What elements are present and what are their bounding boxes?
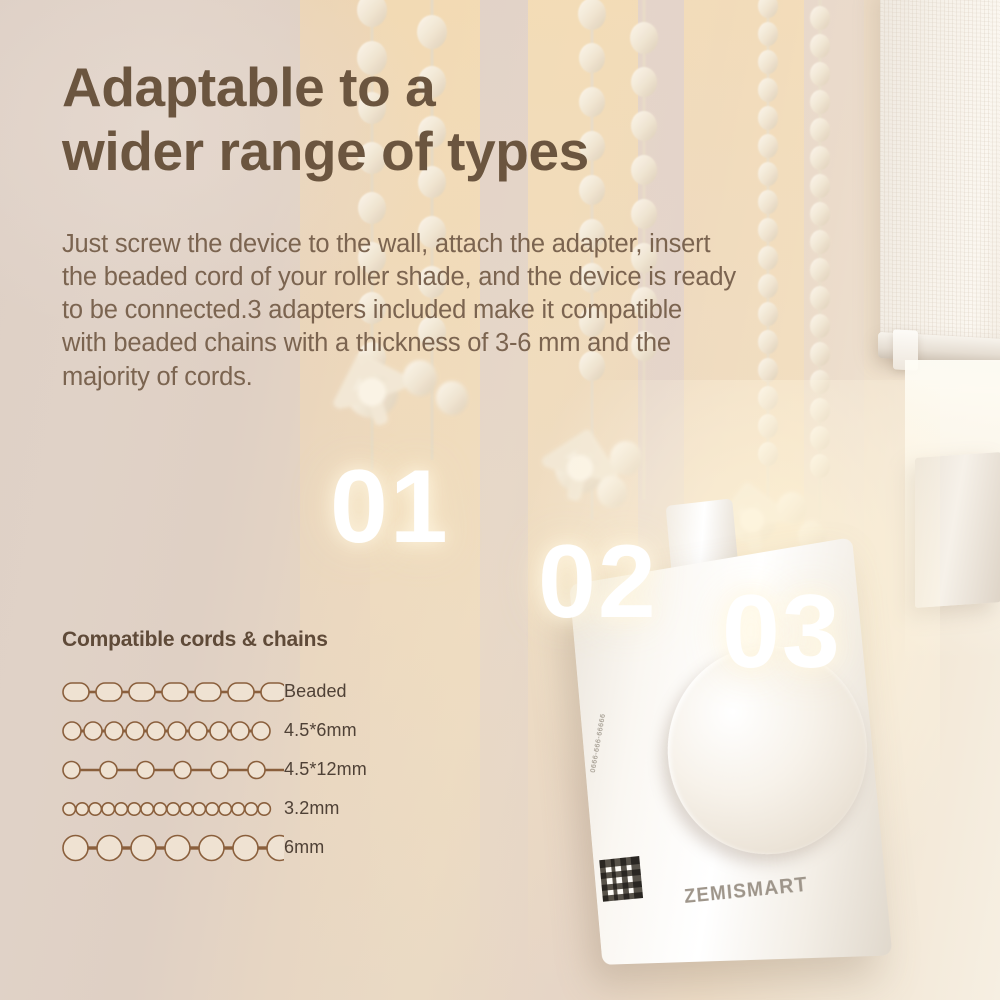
qr-code <box>599 856 643 902</box>
step-number-02: 02 <box>538 530 658 634</box>
cord-diagram-micro-round <box>62 794 284 824</box>
compatible-cords-list: Beaded4.5*6mm4.5*12mm3.2mm6mm <box>62 672 462 867</box>
body-line-4: with beaded chains with a thickness of 3… <box>62 327 922 360</box>
body-line-3: to be connected.3 adapters included make… <box>62 294 922 327</box>
body-line-5: majority of cords. <box>62 361 922 394</box>
cord-diagram-big-round <box>62 833 284 863</box>
cord-row: 6mm <box>62 828 462 867</box>
cord-label: 6mm <box>284 837 324 858</box>
cord-row: 4.5*12mm <box>62 750 462 789</box>
cord-row: Beaded <box>62 672 462 711</box>
body-line-1: Just screw the device to the wall, attac… <box>62 228 922 261</box>
body-line-2: the beaded cord of your roller shade, an… <box>62 261 922 294</box>
cord-label: 3.2mm <box>284 798 340 819</box>
cord-diagram-oval-link <box>62 677 284 707</box>
compatible-cords-title: Compatible cords & chains <box>62 628 462 652</box>
cord-diagram-tight-round <box>62 716 284 746</box>
step-number-01: 01 <box>330 455 450 559</box>
compatible-cords-panel: Compatible cords & chains Beaded4.5*6mm4… <box>62 628 462 867</box>
wall-sconce <box>915 452 1000 608</box>
page-title: Adaptable to a wider range of types <box>62 56 589 184</box>
headline-line-1: Adaptable to a <box>62 56 589 120</box>
cord-diagram-long-link <box>62 755 284 785</box>
step-number-03: 03 <box>722 580 842 684</box>
headline-line-2: wider range of types <box>62 120 589 184</box>
product-feature-page: 0666-666-66666 ZEMISMART 01 02 03 Adapta… <box>0 0 1000 1000</box>
cord-row: 4.5*6mm <box>62 711 462 750</box>
cord-row: 3.2mm <box>62 789 462 828</box>
cord-label: 4.5*6mm <box>284 720 357 741</box>
cord-label: 4.5*12mm <box>284 759 367 780</box>
description-paragraph: Just screw the device to the wall, attac… <box>62 228 922 394</box>
cord-label: Beaded <box>284 681 347 702</box>
